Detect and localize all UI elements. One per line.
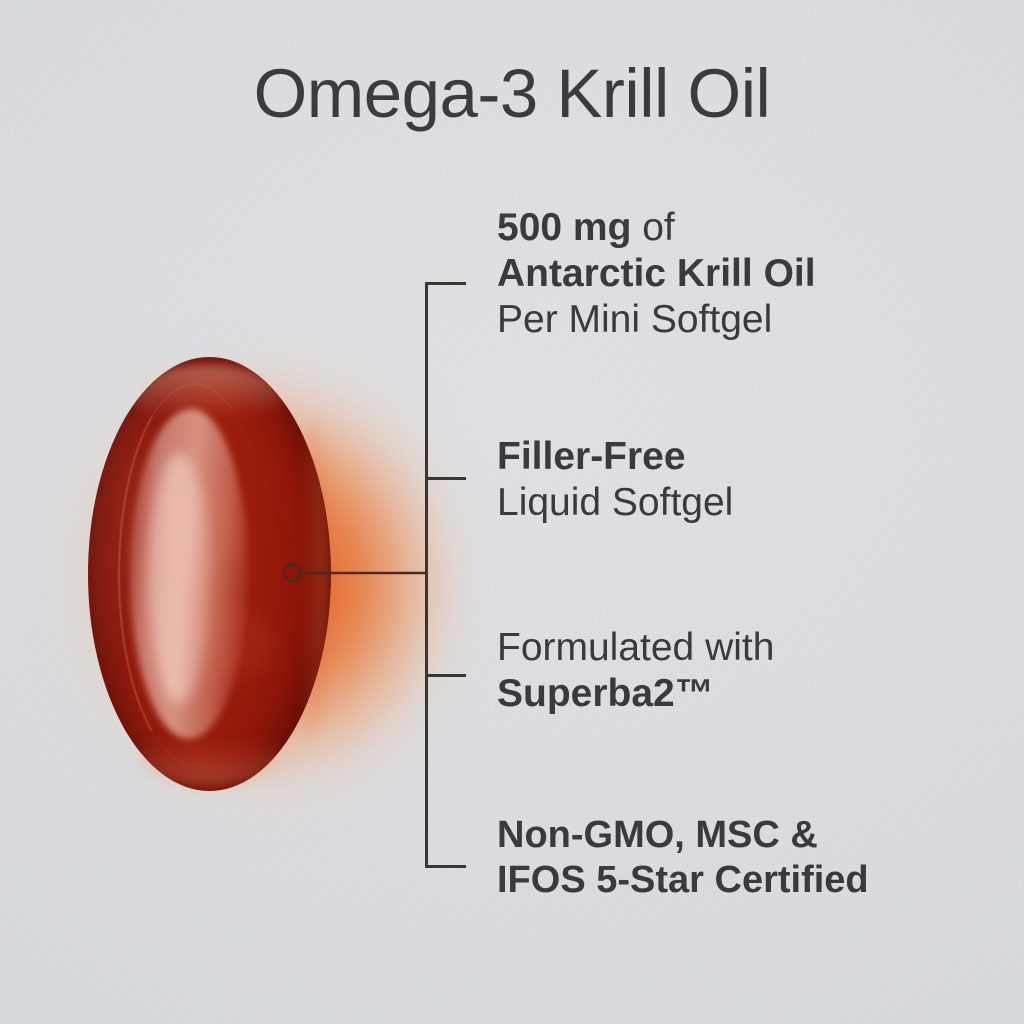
softgel-top-rim-gloss [132,365,282,431]
softgel-bottom-rim-gloss [136,727,282,785]
feature-line-emphasis: 500 mg [497,206,631,249]
feature-line: 500 mg of [497,205,816,251]
softgel-right-rim-light [295,419,329,735]
feature-line: IFOS 5-Star Certified [497,858,869,903]
page-title: Omega-3 Krill Oil [0,54,1024,133]
product-infographic: Omega-3 Krill Oil 500 mg of Antarctic Kr… [0,0,1024,1024]
feature-block-superba2: Formulated with Superba2™ [497,625,774,717]
feature-line: Non-GMO, MSC & [497,813,869,858]
feature-line: Formulated with [497,625,774,671]
softgel-highlight-core [148,453,210,703]
feature-block-dosage: 500 mg of Antarctic Krill Oil Per Mini S… [497,205,816,344]
feature-block-filler-free: Filler-Free Liquid Softgel [497,434,733,526]
feature-line-rest: of [631,206,674,249]
softgel-capsule [88,357,331,791]
feature-line: Superba2™ [497,671,774,717]
feature-line: Antarctic Krill Oil [497,251,816,297]
feature-line: Liquid Softgel [497,480,733,526]
feature-line: Filler-Free [497,434,733,480]
feature-block-certifications: Non-GMO, MSC & IFOS 5-Star Certified [497,813,869,903]
feature-line: Per Mini Softgel [497,297,816,343]
